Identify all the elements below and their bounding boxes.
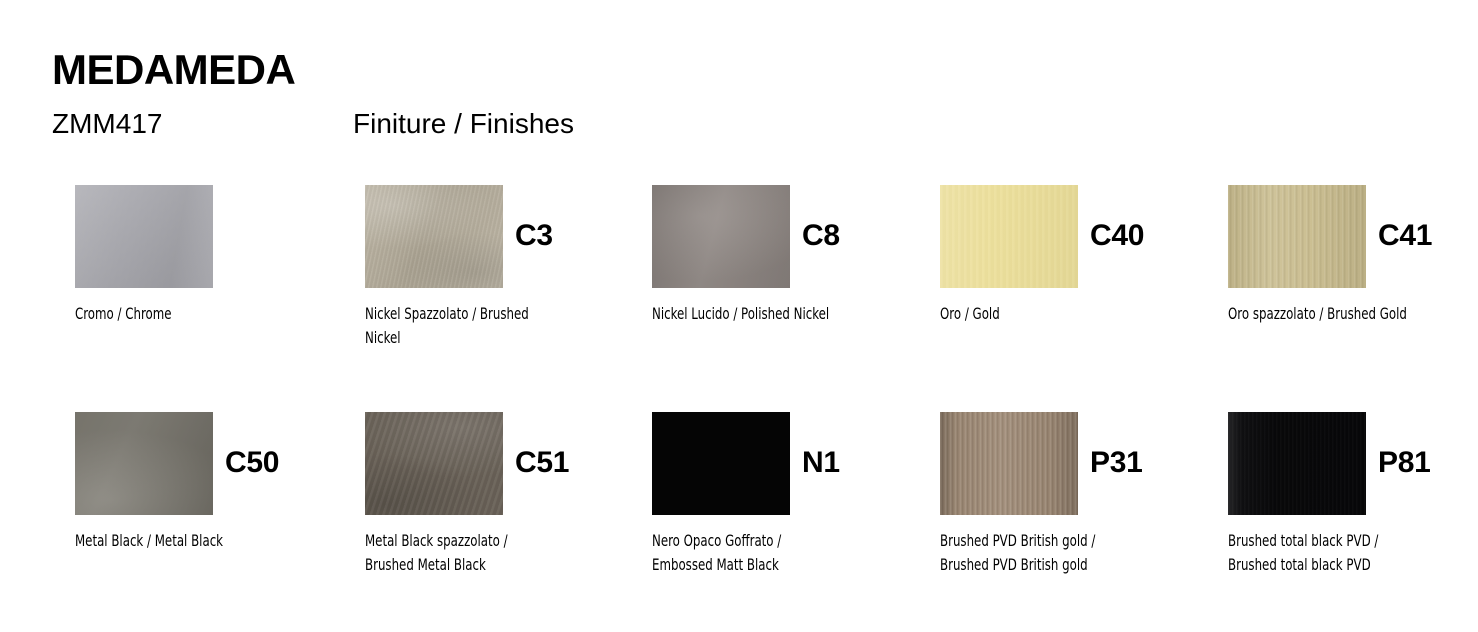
finish-item[interactable]: N1 Nero Opaco Goffrato / Embossed Matt B…	[652, 412, 932, 515]
finish-item[interactable]: C50 Metal Black / Metal Black	[75, 412, 355, 515]
finish-caption: Oro spazzolato / Brushed Gold	[1228, 302, 1418, 326]
finish-swatch[interactable]	[940, 412, 1078, 515]
finish-item[interactable]: C8 Nickel Lucido / Polished Nickel	[652, 185, 932, 288]
finish-caption: Brushed total black PVD / Brushed total …	[1228, 529, 1418, 578]
finish-swatch[interactable]	[365, 412, 503, 515]
swatch-wrap	[365, 412, 503, 515]
finish-caption: Metal Black spazzolato / Brushed Metal B…	[365, 529, 555, 578]
finish-code: C51	[515, 448, 569, 478]
finish-caption: Metal Black / Metal Black	[75, 529, 265, 553]
swatch-wrap	[365, 185, 503, 288]
finish-code: C3	[515, 221, 553, 251]
finish-caption: Nickel Lucido / Polished Nickel	[652, 302, 842, 326]
finish-item[interactable]: C41 Oro spazzolato / Brushed Gold	[1228, 185, 1478, 288]
finish-grid: Cromo / Chrome C3 Nickel Spazzolato / Br…	[0, 0, 1478, 632]
swatch-wrap	[1228, 412, 1366, 515]
swatch-wrap	[652, 185, 790, 288]
finish-swatch[interactable]	[365, 185, 503, 288]
finish-code: C50	[225, 448, 279, 478]
finish-swatch[interactable]	[1228, 185, 1366, 288]
finish-caption: Brushed PVD British gold / Brushed PVD B…	[940, 529, 1130, 578]
finish-item[interactable]: C51 Metal Black spazzolato / Brushed Met…	[365, 412, 645, 515]
swatch-wrap	[940, 185, 1078, 288]
finish-swatch[interactable]	[652, 185, 790, 288]
finish-code: P81	[1378, 448, 1430, 478]
swatch-wrap	[940, 412, 1078, 515]
finish-caption: Nero Opaco Goffrato / Embossed Matt Blac…	[652, 529, 842, 578]
finish-item[interactable]: Cromo / Chrome	[75, 185, 355, 288]
finish-code: C41	[1378, 221, 1432, 251]
finish-item[interactable]: P31 Brushed PVD British gold / Brushed P…	[940, 412, 1220, 515]
swatch-wrap	[652, 412, 790, 515]
finish-swatch[interactable]	[940, 185, 1078, 288]
swatch-wrap	[1228, 185, 1366, 288]
finish-item[interactable]: P81 Brushed total black PVD / Brushed to…	[1228, 412, 1478, 515]
swatch-wrap	[75, 185, 213, 288]
finish-code: C8	[802, 221, 840, 251]
swatch-wrap	[75, 412, 213, 515]
finish-item[interactable]: C40 Oro / Gold	[940, 185, 1220, 288]
finish-swatch[interactable]	[75, 185, 213, 288]
finish-item[interactable]: C3 Nickel Spazzolato / Brushed Nickel	[365, 185, 645, 288]
finish-swatch[interactable]	[75, 412, 213, 515]
finish-caption: Cromo / Chrome	[75, 302, 265, 326]
finish-code: C40	[1090, 221, 1144, 251]
finish-code: N1	[802, 448, 840, 478]
finish-swatch[interactable]	[1228, 412, 1366, 515]
finish-swatch[interactable]	[652, 412, 790, 515]
finish-code: P31	[1090, 448, 1142, 478]
finish-caption: Oro / Gold	[940, 302, 1130, 326]
finish-caption: Nickel Spazzolato / Brushed Nickel	[365, 302, 555, 351]
